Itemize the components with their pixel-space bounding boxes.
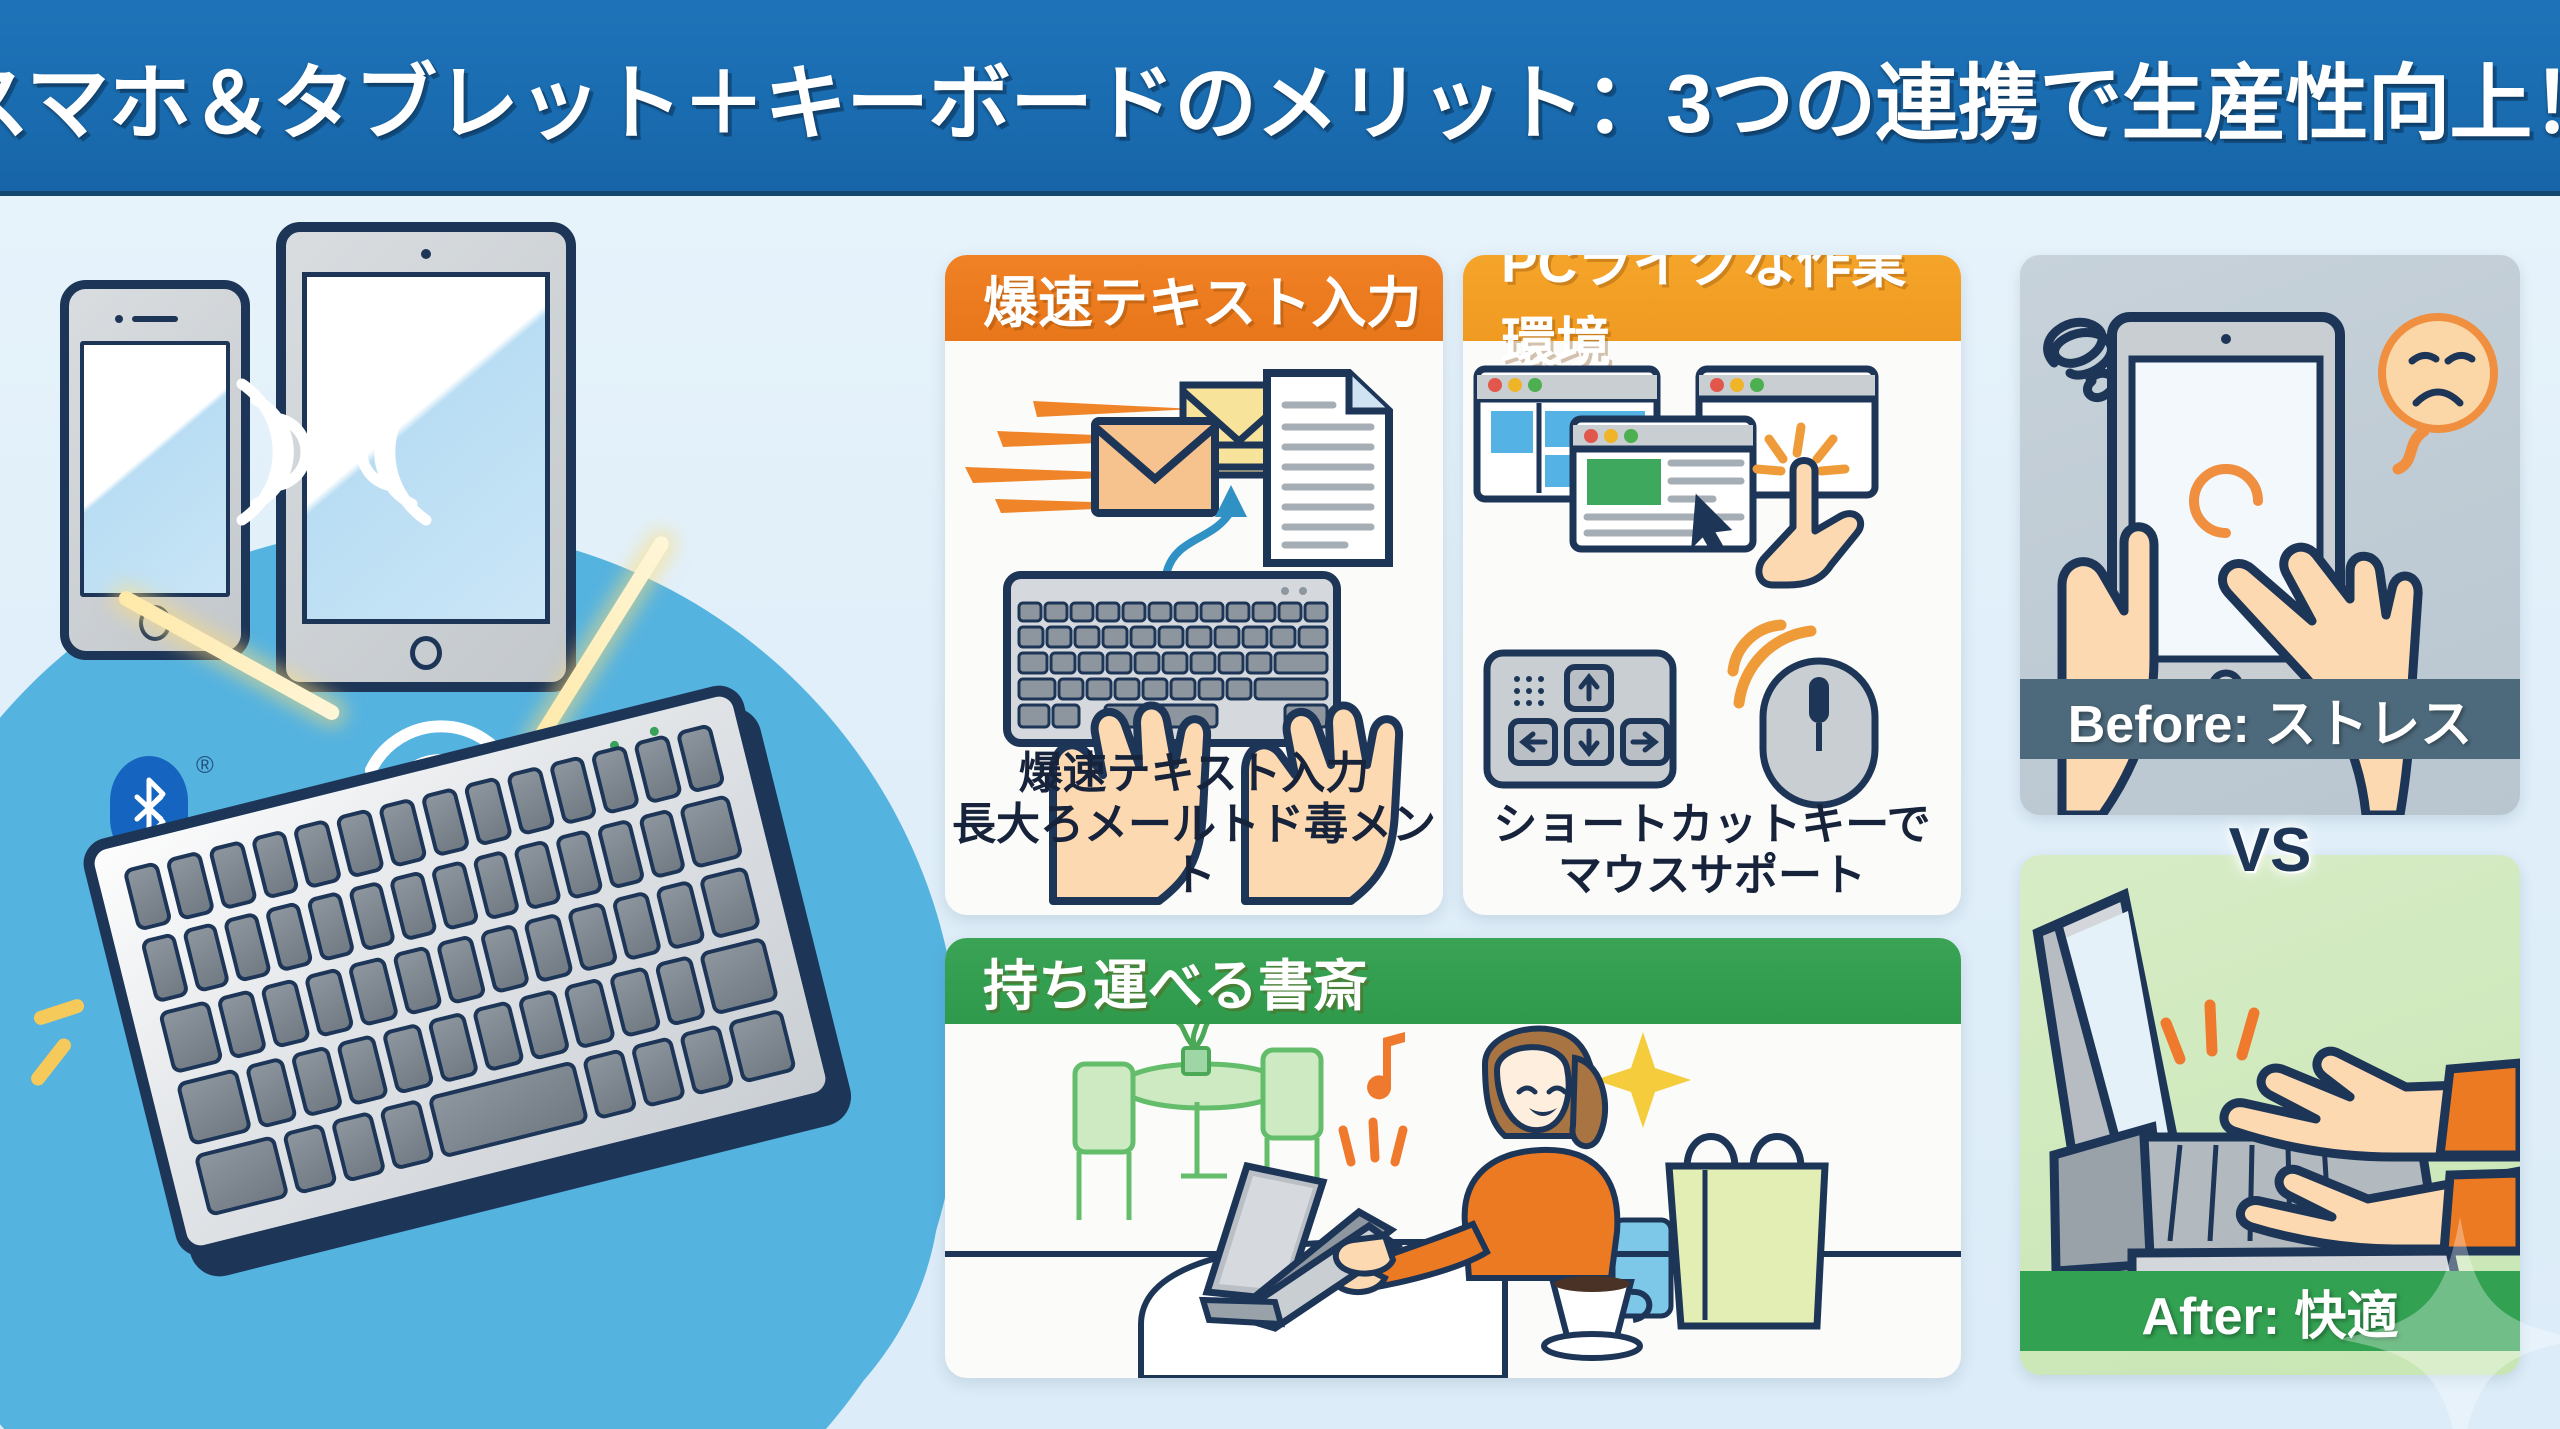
sad-face-icon xyxy=(2382,317,2494,469)
tote-bag-icon xyxy=(1669,1137,1825,1327)
smartphone-icon xyxy=(60,280,250,660)
card-speed-typing[interactable]: 爆速テキスト入力 xyxy=(945,255,1443,915)
after-panel[interactable]: After: 快適 xyxy=(2020,855,2520,1375)
before-label: Before: ストレス xyxy=(2020,679,2520,759)
sparkle-icon xyxy=(1595,1032,1691,1128)
after-label: After: 快適 xyxy=(2020,1271,2520,1351)
tablet-camera-dot xyxy=(421,249,431,259)
card-header: 爆速テキスト入力 xyxy=(945,255,1443,341)
sleeve-icon xyxy=(2440,1063,2520,1251)
action-lines-icon xyxy=(2166,1005,2254,1059)
caption-line-2: マウスサポート xyxy=(1463,850,1961,901)
music-note-icon xyxy=(1367,1032,1405,1099)
vs-label: VS xyxy=(2020,805,2520,895)
card-illustration-portable-study xyxy=(945,1024,1961,1378)
left-illustration: ® xyxy=(0,196,960,1429)
envelope-icon-front xyxy=(1095,421,1215,513)
portable-study-art xyxy=(945,1024,1961,1378)
caption-line-1: 爆速テキスト入力 xyxy=(945,748,1443,799)
phone-screen xyxy=(80,341,230,597)
scribble-icon xyxy=(2048,322,2114,397)
arrow-keypad-icon xyxy=(1487,653,1673,785)
header-bar: スマホ＆タブレット＋キーボードのメリット：3つの連携で生産性向上！ xyxy=(0,0,2560,196)
card-pc-like-environment[interactable]: PCライクな作業環境 xyxy=(1463,255,1961,915)
infographic-canvas: スマホ＆タブレット＋キーボードのメリット：3つの連携で生産性向上！ xyxy=(0,0,2560,1429)
before-panel[interactable]: Before: ストレス xyxy=(2020,255,2520,815)
wireless-mouse-icon xyxy=(1763,661,1875,805)
card-caption: 爆速テキスト入力 長大ろメールトド毒メント xyxy=(945,748,1443,901)
browser-window-icon-3 xyxy=(1573,419,1753,549)
arrow-head xyxy=(1215,485,1247,517)
document-icon xyxy=(1267,373,1389,563)
tablet-home-button xyxy=(410,636,442,670)
caption-line-2: 長大ろメールトド毒メント xyxy=(945,799,1443,901)
typing-hand-icon xyxy=(1336,1236,1393,1274)
curved-arrow-icon xyxy=(1167,511,1231,571)
card-header: 持ち運べる書斎 xyxy=(945,938,1961,1024)
wireless-signal-icon xyxy=(236,366,436,536)
card-caption: ショートカットキーで マウスサポート xyxy=(1463,799,1961,901)
page-title: スマホ＆タブレット＋キーボードのメリット：3つの連携で生産性向上！ xyxy=(0,36,2560,156)
caption-line-1: ショートカットキーで xyxy=(1463,799,1961,850)
card-header: PCライクな作業環境 xyxy=(1463,255,1961,341)
registered-mark: ® xyxy=(196,752,214,780)
plant-icon xyxy=(1177,1024,1211,1074)
phone-camera-dot xyxy=(115,315,123,323)
action-lines-icon xyxy=(1343,1122,1403,1162)
card-portable-study[interactable]: 持ち運べる書斎 xyxy=(945,938,1961,1378)
phone-speaker-slot xyxy=(132,316,178,322)
